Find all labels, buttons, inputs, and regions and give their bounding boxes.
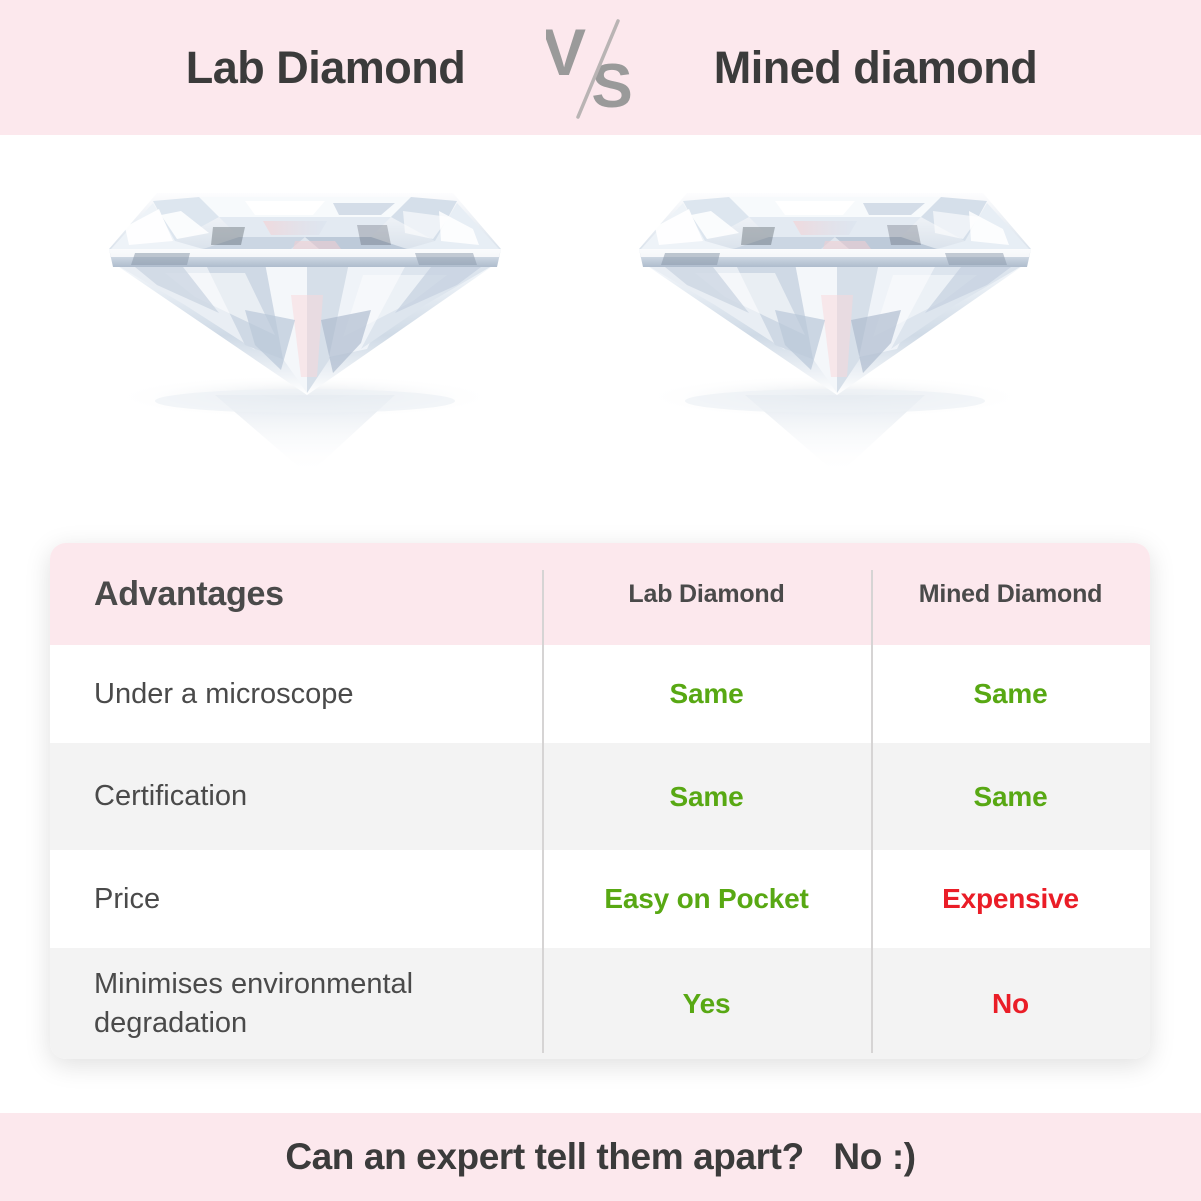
row-feature-label: Minimises environmental degradation	[94, 965, 528, 1042]
row-feature-cell: Minimises environmental degradation	[50, 948, 542, 1059]
row-mined-cell: No	[871, 948, 1150, 1059]
column-divider-first	[542, 570, 544, 1053]
diamond-image-mined	[625, 145, 1045, 535]
row-feature-cell: Price	[50, 850, 542, 948]
row-lab-value: Yes	[683, 988, 731, 1020]
diamond-image-area	[0, 135, 1201, 535]
header-title-mined: Mined diamond	[656, 42, 1096, 94]
comparison-table: Advantages Lab Diamond Mined Diamond Und…	[50, 543, 1150, 1059]
column-divider-second	[871, 570, 873, 1053]
comparison-card: Advantages Lab Diamond Mined Diamond Und…	[50, 543, 1150, 1059]
row-lab-cell: Same	[542, 645, 871, 743]
vs-badge: V S	[546, 13, 656, 123]
header-cell-lab: Lab Diamond	[542, 543, 871, 645]
row-mined-value: Expensive	[942, 883, 1079, 915]
table-row: Under a microscope Same Same	[50, 645, 1150, 743]
header-label-lab: Lab Diamond	[628, 580, 784, 609]
row-lab-cell: Yes	[542, 948, 871, 1059]
row-feature-label: Certification	[94, 777, 247, 815]
vs-icon: V S	[546, 13, 656, 123]
row-lab-value: Easy on Pocket	[604, 883, 808, 915]
header-title-lab: Lab Diamond	[106, 42, 546, 94]
header-cell-advantages: Advantages	[50, 543, 542, 645]
row-mined-value: No	[992, 988, 1029, 1020]
row-mined-cell: Same	[871, 645, 1150, 743]
row-feature-label: Price	[94, 880, 160, 918]
row-mined-value: Same	[974, 781, 1048, 813]
header-label-advantages: Advantages	[94, 575, 284, 614]
diamond-illustration-icon	[625, 145, 1045, 535]
row-feature-label: Under a microscope	[94, 675, 354, 713]
svg-text:V: V	[546, 15, 586, 89]
row-lab-value: Same	[670, 678, 744, 710]
svg-text:S: S	[591, 52, 632, 121]
header-band: Lab Diamond V S Mined diamond	[0, 0, 1201, 135]
table-row: Price Easy on Pocket Expensive	[50, 850, 1150, 948]
header-cell-mined: Mined Diamond	[871, 543, 1150, 645]
row-lab-cell: Easy on Pocket	[542, 850, 871, 948]
diamond-illustration-icon	[95, 145, 515, 535]
table-row: Certification Same Same	[50, 743, 1150, 850]
row-lab-cell: Same	[542, 743, 871, 850]
footer-question: Can an expert tell them apart? No :)	[285, 1136, 915, 1178]
row-mined-cell: Same	[871, 743, 1150, 850]
row-mined-cell: Expensive	[871, 850, 1150, 948]
header-label-mined: Mined Diamond	[919, 580, 1103, 609]
infographic-page: Lab Diamond V S Mined diamond	[0, 0, 1201, 1201]
header-inner: Lab Diamond V S Mined diamond	[0, 13, 1201, 123]
footer-band: Can an expert tell them apart? No :)	[0, 1113, 1201, 1201]
row-lab-value: Same	[670, 781, 744, 813]
row-feature-cell: Certification	[50, 743, 542, 850]
diamond-image-lab	[95, 145, 515, 535]
table-row: Minimises environmental degradation Yes …	[50, 948, 1150, 1059]
table-header-row: Advantages Lab Diamond Mined Diamond	[50, 543, 1150, 645]
row-mined-value: Same	[974, 678, 1048, 710]
row-feature-cell: Under a microscope	[50, 645, 542, 743]
